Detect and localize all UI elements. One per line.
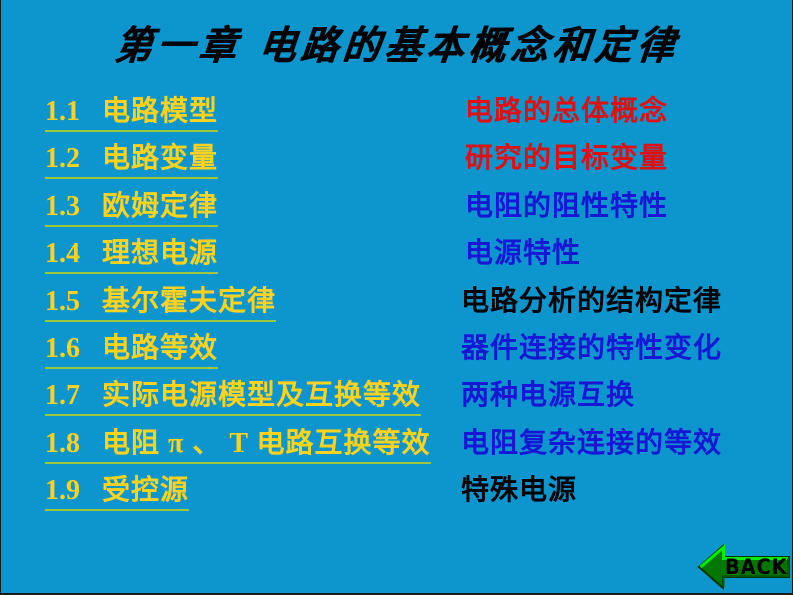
toc-description: 研究的目标变量 [465,142,668,176]
toc-row: 1.1电路模型电路的总体概念 [1,92,793,139]
page-title: 第一章 电路的基本概念和定律 [0,19,793,72]
toc-number: 1.7 [45,380,80,411]
table-of-contents: 1.1电路模型电路的总体概念1.2电路变量研究的目标变量1.3欧姆定律电阻的阻性… [1,92,793,519]
toc-row: 1.2电路变量研究的目标变量 [1,139,793,186]
back-button[interactable]: BACK [697,544,791,590]
toc-description: 两种电源互换 [461,379,635,413]
toc-description: 电路的总体概念 [465,95,668,129]
toc-number: 1.9 [45,475,80,506]
toc-link-1-3[interactable]: 1.3欧姆定律 [45,190,218,227]
toc-description: 特殊电源 [461,474,577,508]
toc-link-1-7[interactable]: 1.7实际电源模型及互换等效 [45,379,421,416]
toc-link-1-6[interactable]: 1.6电路等效 [45,332,218,369]
toc-label: 电路等效 [102,333,218,364]
toc-label: 实际电源模型及互换等效 [102,380,421,411]
toc-link-1-5[interactable]: 1.5基尔霍夫定律 [45,285,276,322]
toc-row: 1.6电路等效器件连接的特性变化 [1,329,793,376]
toc-link-1-9[interactable]: 1.9受控源 [45,474,189,511]
toc-label: 受控源 [102,475,189,506]
toc-label: 欧姆定律 [102,191,218,222]
toc-row: 1.8电阻 π 、 T 电路互换等效电阻复杂连接的等效 [1,424,793,471]
toc-description: 电阻复杂连接的等效 [461,427,722,461]
toc-row: 1.4理想电源电源特性 [1,234,793,281]
toc-number: 1.5 [45,286,80,317]
toc-row: 1.5基尔霍夫定律电路分析的结构定律 [1,282,793,329]
toc-number: 1.4 [45,238,80,269]
toc-label: 理想电源 [102,238,218,269]
toc-link-1-1[interactable]: 1.1电路模型 [45,95,218,132]
toc-row: 1.3欧姆定律电阻的阻性特性 [1,187,793,234]
slide-canvas: 第一章 电路的基本概念和定律 1.1电路模型电路的总体概念1.2电路变量研究的目… [0,0,793,595]
toc-number: 1.3 [45,191,80,222]
left-arrow-icon [697,544,791,590]
toc-label: 电路变量 [102,143,218,174]
toc-link-1-2[interactable]: 1.2电路变量 [45,142,218,179]
toc-description: 电源特性 [465,237,581,271]
toc-number: 1.2 [45,143,80,174]
toc-label: 电路模型 [102,96,218,127]
toc-row: 1.9受控源特殊电源 [1,471,793,518]
toc-link-1-8[interactable]: 1.8电阻 π 、 T 电路互换等效 [45,427,431,464]
toc-number: 1.8 [45,428,80,459]
toc-label: 基尔霍夫定律 [102,286,276,317]
toc-description: 电阻的阻性特性 [465,190,668,224]
toc-row: 1.7实际电源模型及互换等效两种电源互换 [1,376,793,423]
toc-description: 器件连接的特性变化 [461,332,722,366]
toc-number: 1.1 [45,96,80,127]
toc-description: 电路分析的结构定律 [461,285,722,319]
toc-label: 电阻 π 、 T 电路互换等效 [102,428,431,459]
toc-link-1-4[interactable]: 1.4理想电源 [45,237,218,274]
toc-number: 1.6 [45,333,80,364]
